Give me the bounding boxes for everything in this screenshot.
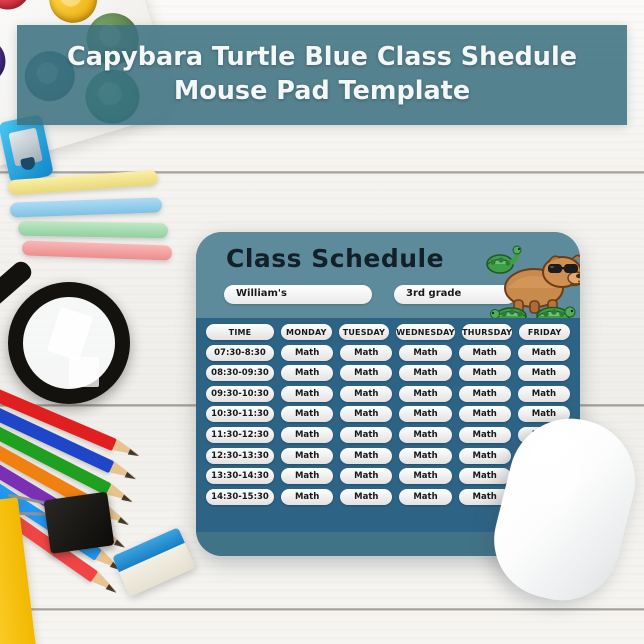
schedule-row: 09:30-10:30MathMathMathMathMath [206, 386, 570, 402]
subject-cell[interactable]: Math [340, 427, 392, 443]
student-name-field[interactable]: William's [224, 285, 372, 304]
sharpener-hole [20, 157, 36, 172]
subject-cell[interactable]: Math [399, 489, 451, 505]
subject-cell[interactable]: Math [459, 406, 511, 422]
capybara-illustration [478, 240, 580, 326]
time-slot-cell: 12:30-13:30 [206, 448, 274, 464]
subject-cell[interactable]: Math [399, 406, 451, 422]
schedule-row: 10:30-11:30MathMathMathMathMath [206, 406, 570, 422]
subject-cell[interactable]: Math [399, 448, 451, 464]
subject-cell[interactable]: Math [281, 468, 333, 484]
subject-cell[interactable]: Math [459, 365, 511, 381]
clip-body [44, 492, 115, 554]
subject-cell[interactable]: Math [459, 386, 511, 402]
time-slot-cell: 11:30-12:30 [206, 427, 274, 443]
schedule-row: 07:30-8:30MathMathMathMathMath [206, 345, 570, 361]
page-title: Capybara Turtle Blue Class Shedule Mouse… [17, 41, 627, 108]
paint-pan-red [0, 0, 36, 15]
subject-cell[interactable]: Math [340, 365, 392, 381]
subject-cell[interactable]: Math [459, 468, 511, 484]
subject-cell[interactable]: Math [281, 386, 333, 402]
subject-cell[interactable]: Math [459, 427, 511, 443]
time-slot-cell: 13:30-14:30 [206, 468, 274, 484]
subject-cell[interactable]: Math [340, 386, 392, 402]
capybara-body [505, 255, 580, 313]
subject-cell[interactable]: Math [518, 386, 570, 402]
desk-scene: 12345 Class Schedule William's 3rd grade [0, 0, 644, 644]
subject-cell[interactable]: Math [281, 489, 333, 505]
subject-cell[interactable]: Math [340, 448, 392, 464]
column-header-monday: MONDAY [281, 324, 332, 340]
subject-cell[interactable]: Math [399, 427, 451, 443]
schedule-title: Class Schedule [226, 244, 444, 273]
paint-pan-violet [0, 32, 11, 89]
subject-cell[interactable]: Math [281, 345, 333, 361]
subject-cell[interactable]: Math [459, 345, 511, 361]
schedule-header-row: TIMEMONDAYTUESDAYWEDNESDAYTHURSDAYFRIDAY [206, 324, 570, 340]
time-slot-cell: 14:30-15:30 [206, 489, 274, 505]
subject-cell[interactable]: Math [281, 448, 333, 464]
subject-cell[interactable]: Math [399, 365, 451, 381]
student-name-value: William's [236, 288, 287, 299]
time-slot-cell: 10:30-11:30 [206, 406, 274, 422]
column-header-friday: FRIDAY [519, 324, 570, 340]
subject-cell[interactable]: Math [281, 406, 333, 422]
column-header-wednesday: WEDNESDAY [396, 324, 455, 340]
subject-cell[interactable]: Math [459, 448, 511, 464]
grade-value: 3rd grade [406, 288, 461, 299]
turtle-on-back [487, 246, 521, 273]
mouse-pad-header: Class Schedule William's 3rd grade [196, 232, 580, 318]
subject-cell[interactable]: Math [399, 468, 451, 484]
column-header-time: TIME [206, 324, 274, 340]
subject-cell[interactable]: Math [399, 386, 451, 402]
subject-cell[interactable]: Math [399, 345, 451, 361]
subject-cell[interactable]: Math [340, 406, 392, 422]
subject-cell[interactable]: Math [340, 489, 392, 505]
subject-cell[interactable]: Math [340, 468, 392, 484]
time-slot-cell: 08:30-09:30 [206, 365, 274, 381]
plank-seam [0, 608, 644, 611]
subject-cell[interactable]: Math [518, 345, 570, 361]
schedule-row: 08:30-09:30MathMathMathMathMath [206, 365, 570, 381]
subject-cell[interactable]: Math [281, 427, 333, 443]
chalk-stick-green [18, 221, 168, 239]
column-header-tuesday: TUESDAY [339, 324, 390, 340]
time-slot-cell: 09:30-10:30 [206, 386, 274, 402]
title-banner: Capybara Turtle Blue Class Shedule Mouse… [17, 25, 627, 125]
binder-clip [34, 477, 121, 555]
mouse-highlight [514, 425, 588, 531]
subject-cell[interactable]: Math [518, 365, 570, 381]
schedule-row: 11:30-12:30MathMathMathMathMath [206, 427, 570, 443]
lens-glare [47, 307, 94, 361]
column-header-thursday: THURSDAY [462, 324, 513, 340]
subject-cell[interactable]: Math [281, 365, 333, 381]
time-slot-cell: 07:30-8:30 [206, 345, 274, 361]
subject-cell[interactable]: Math [340, 345, 392, 361]
